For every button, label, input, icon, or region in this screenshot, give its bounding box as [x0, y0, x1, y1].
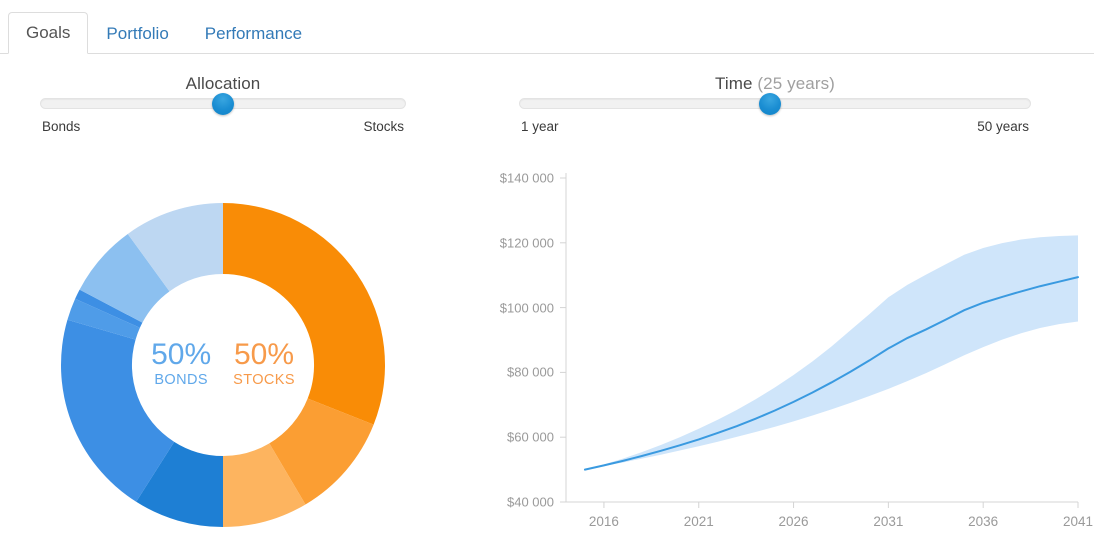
tab-label: Portfolio — [106, 24, 168, 43]
tab-portfolio[interactable]: Portfolio — [88, 13, 186, 54]
y-tick-label: $80 000 — [507, 365, 554, 380]
time-slider-thumb[interactable] — [759, 93, 781, 115]
projection-axis-labels: $40 000$60 000$80 000$100 000$120 000$14… — [446, 172, 1094, 550]
x-tick-label: 2016 — [589, 514, 619, 529]
donut-slice-stocks-0[interactable] — [223, 203, 385, 425]
tab-goals[interactable]: Goals — [8, 12, 88, 54]
goals-dashboard: GoalsPortfolioPerformance Allocation Bon… — [0, 0, 1094, 550]
y-tick-label: $120 000 — [500, 235, 554, 250]
time-slider-group: 1 year 50 years — [519, 94, 1031, 137]
x-tick-label: 2031 — [873, 514, 903, 529]
tab-list: GoalsPortfolioPerformance — [8, 12, 320, 54]
tab-label: Performance — [205, 24, 302, 43]
allocation-slider-max-label: Stocks — [363, 119, 404, 134]
time-slider[interactable] — [519, 94, 1031, 112]
allocation-slider-group: Bonds Stocks — [40, 94, 406, 137]
tab-performance[interactable]: Performance — [187, 13, 320, 54]
x-tick-label: 2036 — [968, 514, 998, 529]
allocation-title-text: Allocation — [186, 74, 261, 93]
projection-chart[interactable]: $40 000$60 000$80 000$100 000$120 000$14… — [446, 172, 1094, 550]
y-tick-label: $40 000 — [507, 495, 554, 510]
allocation-donut-chart[interactable]: 50% BONDS 50% STOCKS — [37, 184, 409, 544]
y-tick-label: $100 000 — [500, 300, 554, 315]
allocation-slider-thumb[interactable] — [212, 93, 234, 115]
time-slider-min-label: 1 year — [521, 119, 559, 134]
x-tick-label: 2041 — [1063, 514, 1093, 529]
allocation-slider-min-label: Bonds — [42, 119, 80, 134]
tab-label: Goals — [26, 23, 70, 42]
y-tick-label: $60 000 — [507, 430, 554, 445]
allocation-panel: Allocation Bonds Stocks 50% BONDS — [0, 72, 446, 550]
allocation-slider-labels: Bonds Stocks — [40, 119, 406, 137]
time-title-subtitle: (25 years) — [757, 74, 835, 93]
time-slider-labels: 1 year 50 years — [519, 119, 1031, 137]
time-title: Time (25 years) — [519, 72, 1031, 96]
y-tick-label: $140 000 — [500, 171, 554, 186]
x-tick-label: 2021 — [684, 514, 714, 529]
tab-bar: GoalsPortfolioPerformance — [0, 0, 1094, 54]
time-title-text: Time — [715, 74, 753, 93]
allocation-slider[interactable] — [40, 94, 406, 112]
projection-panel: Time (25 years) 1 year 50 years $40 000$… — [446, 72, 1094, 550]
donut-svg — [37, 184, 409, 544]
x-tick-label: 2026 — [779, 514, 809, 529]
time-slider-max-label: 50 years — [977, 119, 1029, 134]
